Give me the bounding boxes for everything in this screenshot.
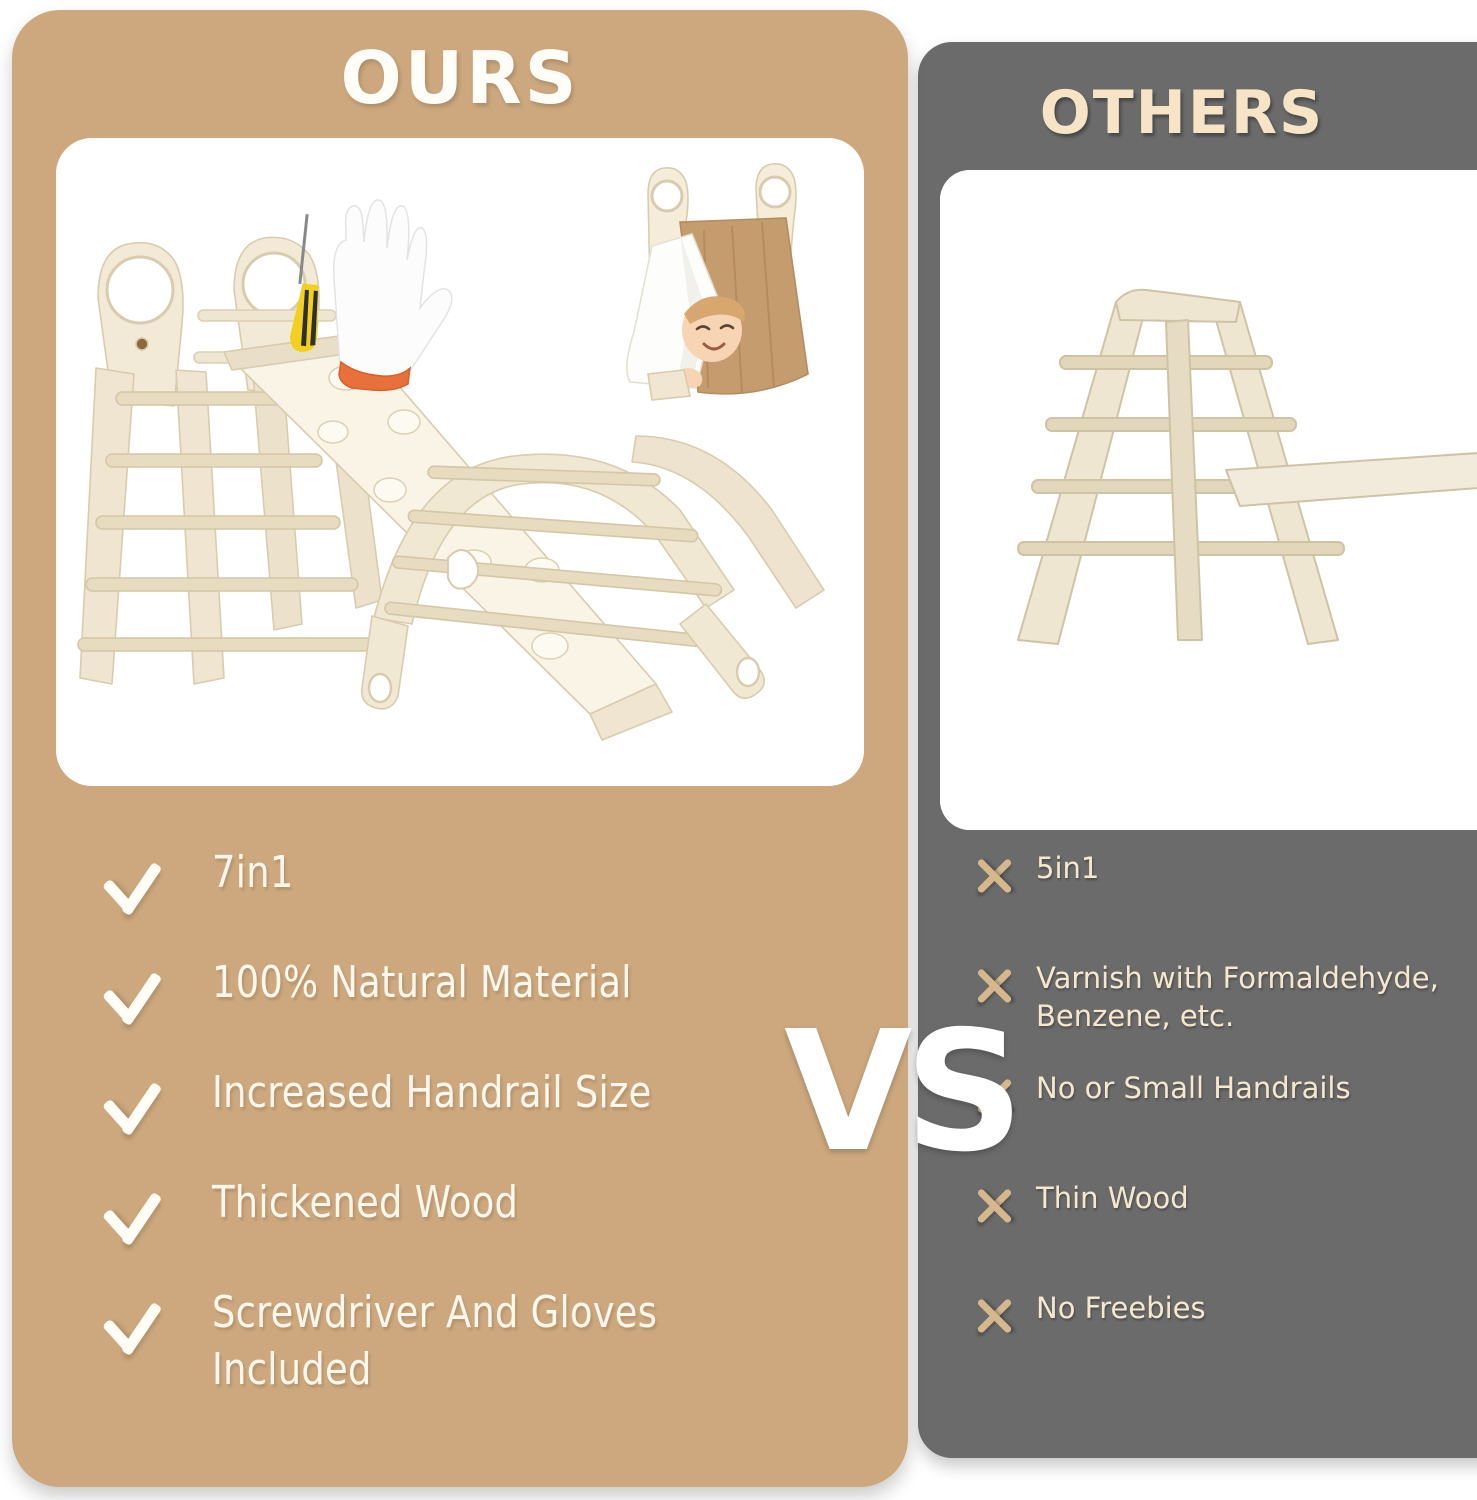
ours-product-image-card [56,138,864,786]
others-product-image-card [940,170,1477,830]
check-icon [108,964,170,1022]
x-icon [974,1076,1014,1116]
others-feature-label: 5in1 [1036,850,1477,888]
ours-feature-item: Thickened Wood [108,1178,868,1252]
ours-product-illustration [56,138,864,786]
ours-title: OURS [12,36,908,120]
others-feature-item: Thin Wood [974,1184,1477,1244]
others-title: OTHERS [918,78,1446,148]
ours-feature-label: 100% Natural Material [212,954,807,1011]
ours-feature-item: Increased Handrail Size [108,1068,868,1142]
others-feature-item: No or Small Handrails [974,1074,1477,1134]
x-icon [974,966,1014,1006]
others-feature-list: 5in1 Varnish with Formaldehyde, Benzene,… [974,854,1477,1354]
ours-panel: OURS [12,10,908,1487]
x-icon [974,856,1014,896]
ours-feature-label: Thickened Wood [212,1174,807,1231]
ours-feature-item: Screwdriver And Gloves Included [108,1288,868,1362]
check-icon [108,1294,170,1352]
ours-feature-label: 7in1 [212,844,807,901]
others-feature-item: Varnish with Formaldehyde, Benzene, etc. [974,964,1477,1024]
ours-feature-label: Increased Handrail Size [212,1064,807,1121]
others-feature-label: Thin Wood [1036,1180,1477,1218]
ours-feature-item: 100% Natural Material [108,958,868,1032]
ours-feature-list: 7in1 100% Natural Material Increased Han… [108,848,868,1362]
x-icon [974,1296,1014,1336]
others-product-illustration [940,170,1477,830]
ours-feature-label: Screwdriver And Gloves Included [212,1284,807,1398]
others-feature-label: No or Small Handrails [1036,1070,1477,1108]
check-icon [108,1184,170,1242]
others-feature-item: No Freebies [974,1294,1477,1354]
check-icon [108,854,170,912]
x-icon [974,1186,1014,1226]
comparison-infographic: OTHERS [0,0,1477,1500]
ours-feature-item: 7in1 [108,848,868,922]
check-icon [108,1074,170,1132]
others-panel: OTHERS [918,42,1477,1458]
others-feature-label: No Freebies [1036,1290,1477,1328]
others-feature-label: Varnish with Formaldehyde, Benzene, etc. [1036,960,1477,1035]
others-feature-item: 5in1 [974,854,1477,914]
